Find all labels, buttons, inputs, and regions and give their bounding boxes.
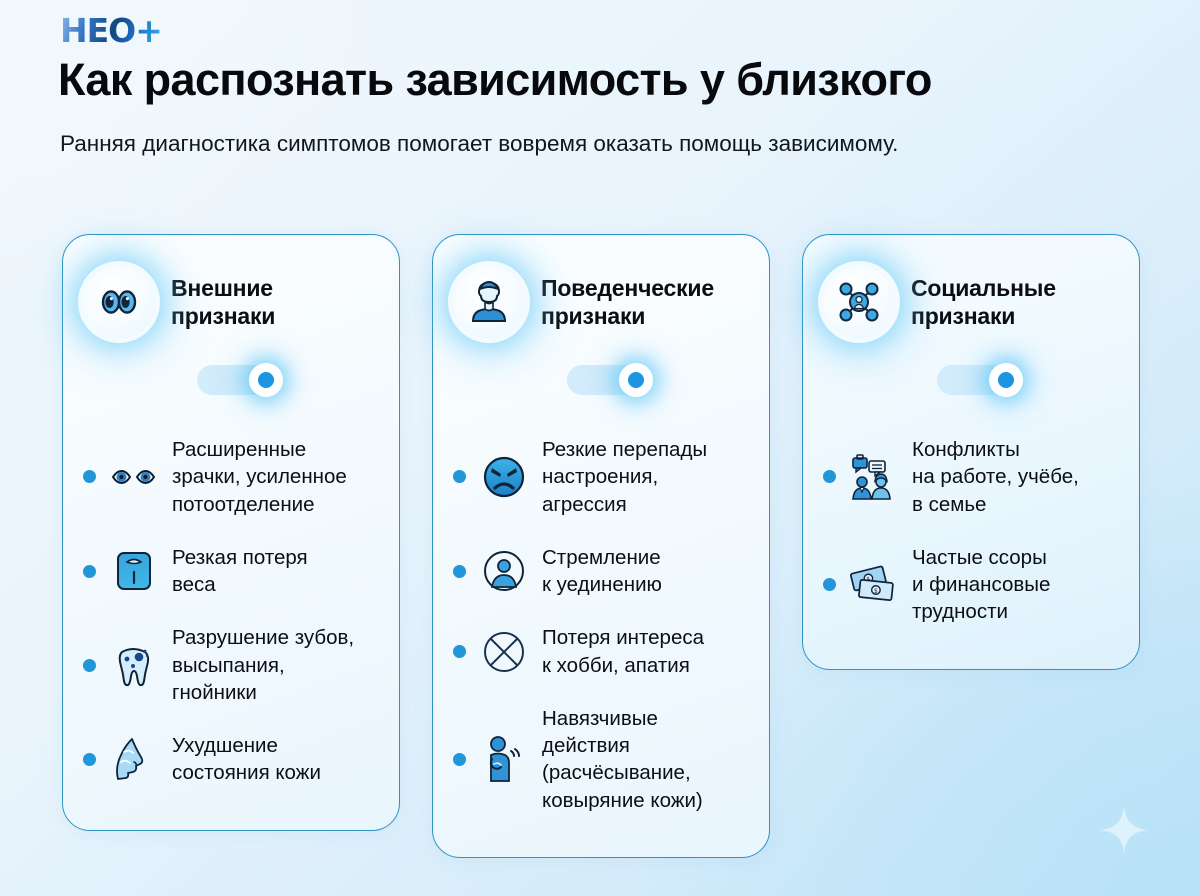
toggle-behavioral[interactable] [567,365,651,395]
toggle-dot [998,372,1014,388]
toggle-wrap [453,343,749,417]
person-bust-icon [453,266,525,338]
dilated-pupils-icon [109,452,159,502]
item-text: Стремление к уединению [542,544,662,599]
list-item: Стремление к уединению [453,531,749,612]
scratching-person-icon [479,734,529,784]
avatar-circle-icon [479,546,529,596]
list-item: $ $ Частые ссоры и финансовые трудности [823,531,1119,639]
decayed-tooth-icon [109,640,159,690]
bullet-dot [83,470,96,483]
eyes-icon [83,266,155,338]
toggle-knob[interactable] [619,363,653,397]
bullet-dot [83,753,96,766]
bullet-dot [453,645,466,658]
brand-logo: НЕО+ [60,14,162,47]
item-text: Резкие перепады настроения, агрессия [542,436,707,518]
toggle-external[interactable] [197,365,281,395]
toggle-social[interactable] [937,365,1021,395]
card-title: Поведенческие признаки [541,274,714,330]
signs-list: Расширенные зрачки, усиленное потоотделе… [83,423,379,800]
four-point-star-icon [1100,806,1148,854]
list-item: Разрушение зубов, высыпания, гнойники [83,611,379,719]
page-subtitle: Ранняя диагностика симптомов помогает во… [60,128,980,161]
signs-list: Резкие перепады настроения, агрессия Стр… [453,423,749,827]
card-header: Социальные признаки [823,261,1119,343]
item-text: Расширенные зрачки, усиленное потоотделе… [172,436,347,518]
item-text: Конфликты на работе, учёбе, в семье [912,436,1079,518]
page-title: Как распознать зависимость у близкого [58,56,1168,104]
bullet-dot [83,659,96,672]
list-item: Навязчивые действия (расчёсывание, ковыр… [453,692,749,827]
toggle-dot [628,372,644,388]
item-text: Резкая потеря веса [172,544,308,599]
item-text: Потеря интереса к хобби, апатия [542,624,704,679]
item-text: Разрушение зубов, высыпания, гнойники [172,624,354,706]
bullet-dot [823,470,836,483]
list-item: Ухудшение состояния кожи [83,719,379,800]
toggle-knob[interactable] [249,363,283,397]
item-text: Ухудшение состояния кожи [172,732,321,787]
banknotes-icon: $ $ [849,560,899,610]
card-header: Поведенческие признаки [453,261,749,343]
list-item: Резкая потеря веса [83,531,379,612]
list-item: Резкие перепады настроения, агрессия [453,423,749,531]
toggle-knob[interactable] [989,363,1023,397]
bullet-dot [823,578,836,591]
crossed-circle-icon [479,627,529,677]
signs-list: Конфликты на работе, учёбе, в семье $ [823,423,1119,639]
card-title: Внешние признаки [171,274,275,330]
card-social-signs: Социальные признаки [802,234,1140,670]
infographic-page: НЕО+ Как распознать зависимость у близко… [0,0,1200,896]
bullet-dot [453,753,466,766]
card-behavioral-signs: Поведенческие признаки [432,234,770,858]
list-item: Потеря интереса к хобби, апатия [453,611,749,692]
card-external-signs: Внешние признаки [62,234,400,831]
toggle-dot [258,372,274,388]
weight-scale-icon [109,546,159,596]
angry-face-icon [479,452,529,502]
item-text: Частые ссоры и финансовые трудности [912,544,1050,626]
svg-text:$: $ [873,586,878,594]
list-item: Конфликты на работе, учёбе, в семье [823,423,1119,531]
social-network-icon [823,266,895,338]
toggle-wrap [823,343,1119,417]
bullet-dot [83,565,96,578]
people-conflict-icon [849,452,899,502]
list-item: Расширенные зрачки, усиленное потоотделе… [83,423,379,531]
cards-row: Внешние признаки [62,234,1142,858]
toggle-wrap [83,343,379,417]
face-skin-icon [109,734,159,784]
card-header: Внешние признаки [83,261,379,343]
item-text: Навязчивые действия (расчёсывание, ковыр… [542,705,703,814]
bullet-dot [453,470,466,483]
bullet-dot [453,565,466,578]
card-title: Социальные признаки [911,274,1056,330]
